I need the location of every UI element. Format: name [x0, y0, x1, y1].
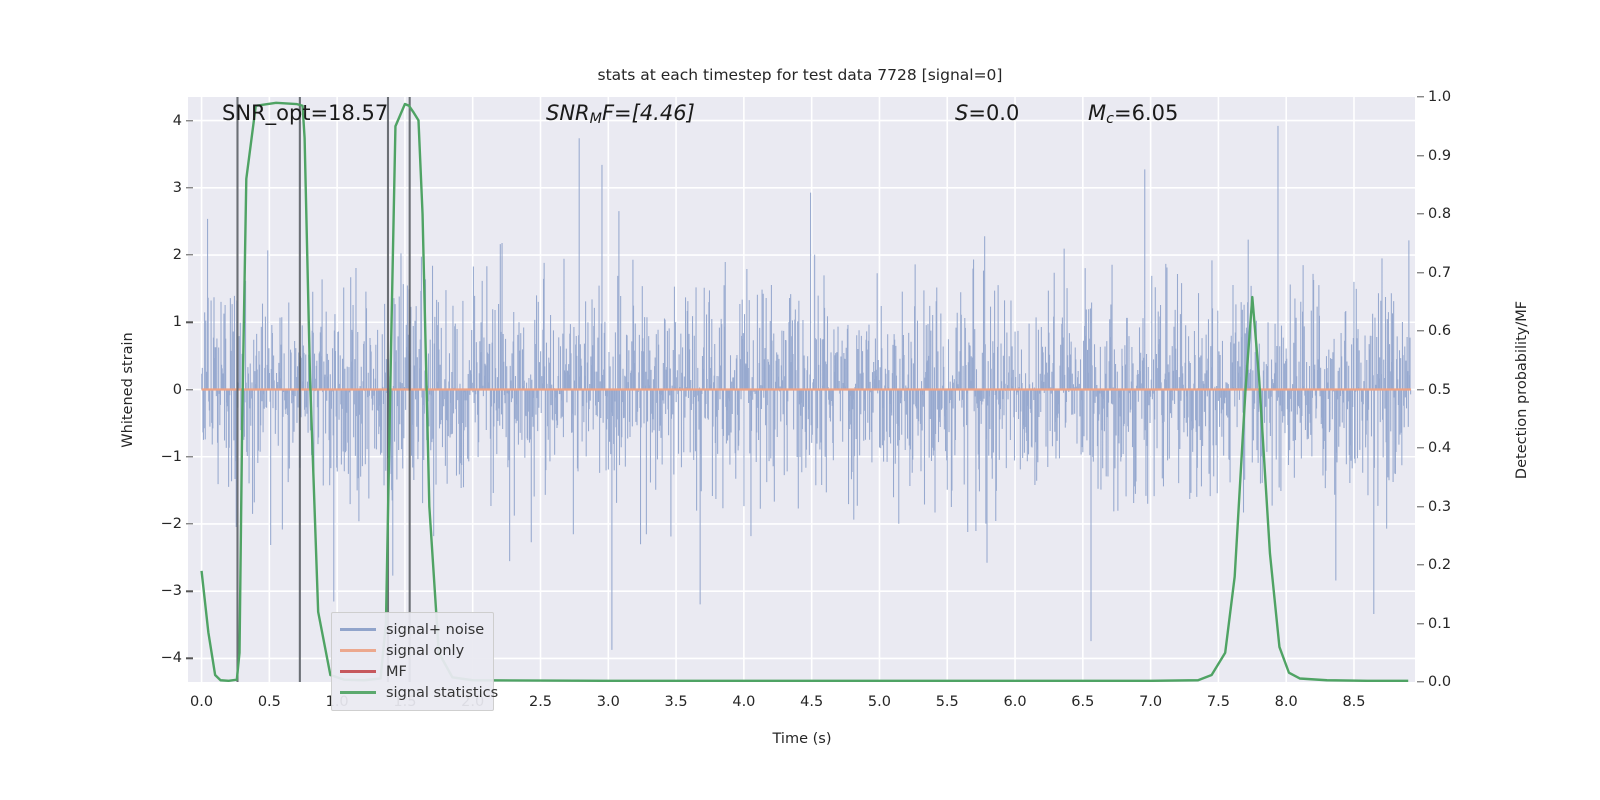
legend-label: MF [386, 664, 407, 680]
x-tick-label: 8.5 [1319, 694, 1389, 710]
y-tick-label-left: −1 [122, 449, 182, 465]
x-tick-label: 2.5 [506, 694, 576, 710]
y-tick-label-right: 0.5 [1428, 382, 1498, 398]
tick-mark [186, 322, 193, 323]
tick-mark [186, 523, 193, 524]
x-tick-label: 6.0 [980, 694, 1050, 710]
y-tick-label-left: −2 [122, 516, 182, 532]
figure: stats at each timestep for test data 772… [0, 0, 1600, 800]
tick-mark [1417, 155, 1424, 156]
legend-item-0[interactable]: signal+ noise [340, 619, 485, 640]
x-tick-label: 3.5 [641, 694, 711, 710]
annotation-s-stat: S=0.0 [955, 101, 1019, 125]
legend-swatch-icon [340, 628, 376, 630]
x-tick-label: 7.0 [1116, 694, 1186, 710]
tick-mark [1417, 272, 1424, 273]
y-tick-label-right: 1.0 [1428, 89, 1498, 105]
x-tick-label: 0.0 [167, 694, 237, 710]
x-axis-label: Time (s) [773, 731, 832, 747]
y-tick-label-left: 2 [122, 247, 182, 263]
y-tick-label-right: 0.8 [1428, 206, 1498, 222]
legend-item-3[interactable]: signal statistics [340, 682, 485, 703]
annotation-snr-opt: SNR_opt=18.57 [222, 101, 388, 125]
legend-swatch-icon [340, 670, 376, 672]
x-tick-label: 0.5 [234, 694, 304, 710]
tick-mark [1417, 564, 1424, 565]
tick-mark [186, 187, 193, 188]
page-title: stats at each timestep for test data 772… [0, 66, 1600, 84]
noise-trace [202, 126, 1411, 650]
x-tick-label: 4.5 [777, 694, 847, 710]
tick-mark [186, 658, 193, 659]
legend-item-2[interactable]: MF [340, 661, 485, 682]
tick-mark [186, 120, 193, 121]
plot-canvas [188, 97, 1415, 682]
tick-mark [186, 591, 193, 592]
annotation-snr-mf: SNRMF=[4.46] [546, 101, 695, 127]
x-tick-label: 5.0 [844, 694, 914, 710]
legend-label: signal only [386, 643, 464, 659]
x-tick-label: 4.0 [709, 694, 779, 710]
tick-mark [1417, 681, 1424, 682]
y-tick-label-left: 3 [122, 180, 182, 196]
legend-label: signal+ noise [386, 622, 484, 638]
annotation-chirp-mass: Mc=6.05 [1088, 101, 1178, 127]
y-tick-label-right: 0.1 [1428, 616, 1498, 632]
tick-mark [1417, 389, 1424, 390]
legend-item-1[interactable]: signal only [340, 640, 485, 661]
y-tick-label-left: −4 [122, 650, 182, 666]
tick-mark [186, 389, 193, 390]
y-tick-label-right: 0.6 [1428, 323, 1498, 339]
legend-swatch-icon [340, 691, 376, 693]
tick-mark [186, 456, 193, 457]
tick-mark [1417, 96, 1424, 97]
y-tick-label-left: 4 [122, 113, 182, 129]
legend[interactable]: signal+ noisesignal onlyMFsignal statist… [331, 612, 494, 711]
y-tick-label-right: 0.9 [1428, 148, 1498, 164]
tick-mark [1417, 330, 1424, 331]
y-tick-label-left: 1 [122, 314, 182, 330]
y-tick-label-right: 0.7 [1428, 265, 1498, 281]
y-tick-label-right: 0.3 [1428, 499, 1498, 515]
x-tick-label: 8.0 [1251, 694, 1321, 710]
series-signal-plus-noise [202, 126, 1411, 650]
legend-swatch-icon [340, 649, 376, 651]
x-tick-label: 6.5 [1048, 694, 1118, 710]
x-tick-label: 7.5 [1183, 694, 1253, 710]
y-tick-label-right: 0.4 [1428, 440, 1498, 456]
y-tick-label-left: −3 [122, 583, 182, 599]
x-tick-label: 3.0 [573, 694, 643, 710]
tick-mark [1417, 213, 1424, 214]
tick-mark [1417, 506, 1424, 507]
y-tick-label-left: 0 [122, 382, 182, 398]
plot-area [188, 97, 1415, 682]
y-tick-label-right: 0.2 [1428, 557, 1498, 573]
y-tick-label-right: 0.0 [1428, 674, 1498, 690]
legend-label: signal statistics [386, 685, 498, 701]
x-tick-label: 5.5 [912, 694, 982, 710]
tick-mark [186, 254, 193, 255]
tick-mark [1417, 623, 1424, 624]
y-axis-label-right: Detection probability/MF [1514, 301, 1530, 479]
tick-mark [1417, 447, 1424, 448]
